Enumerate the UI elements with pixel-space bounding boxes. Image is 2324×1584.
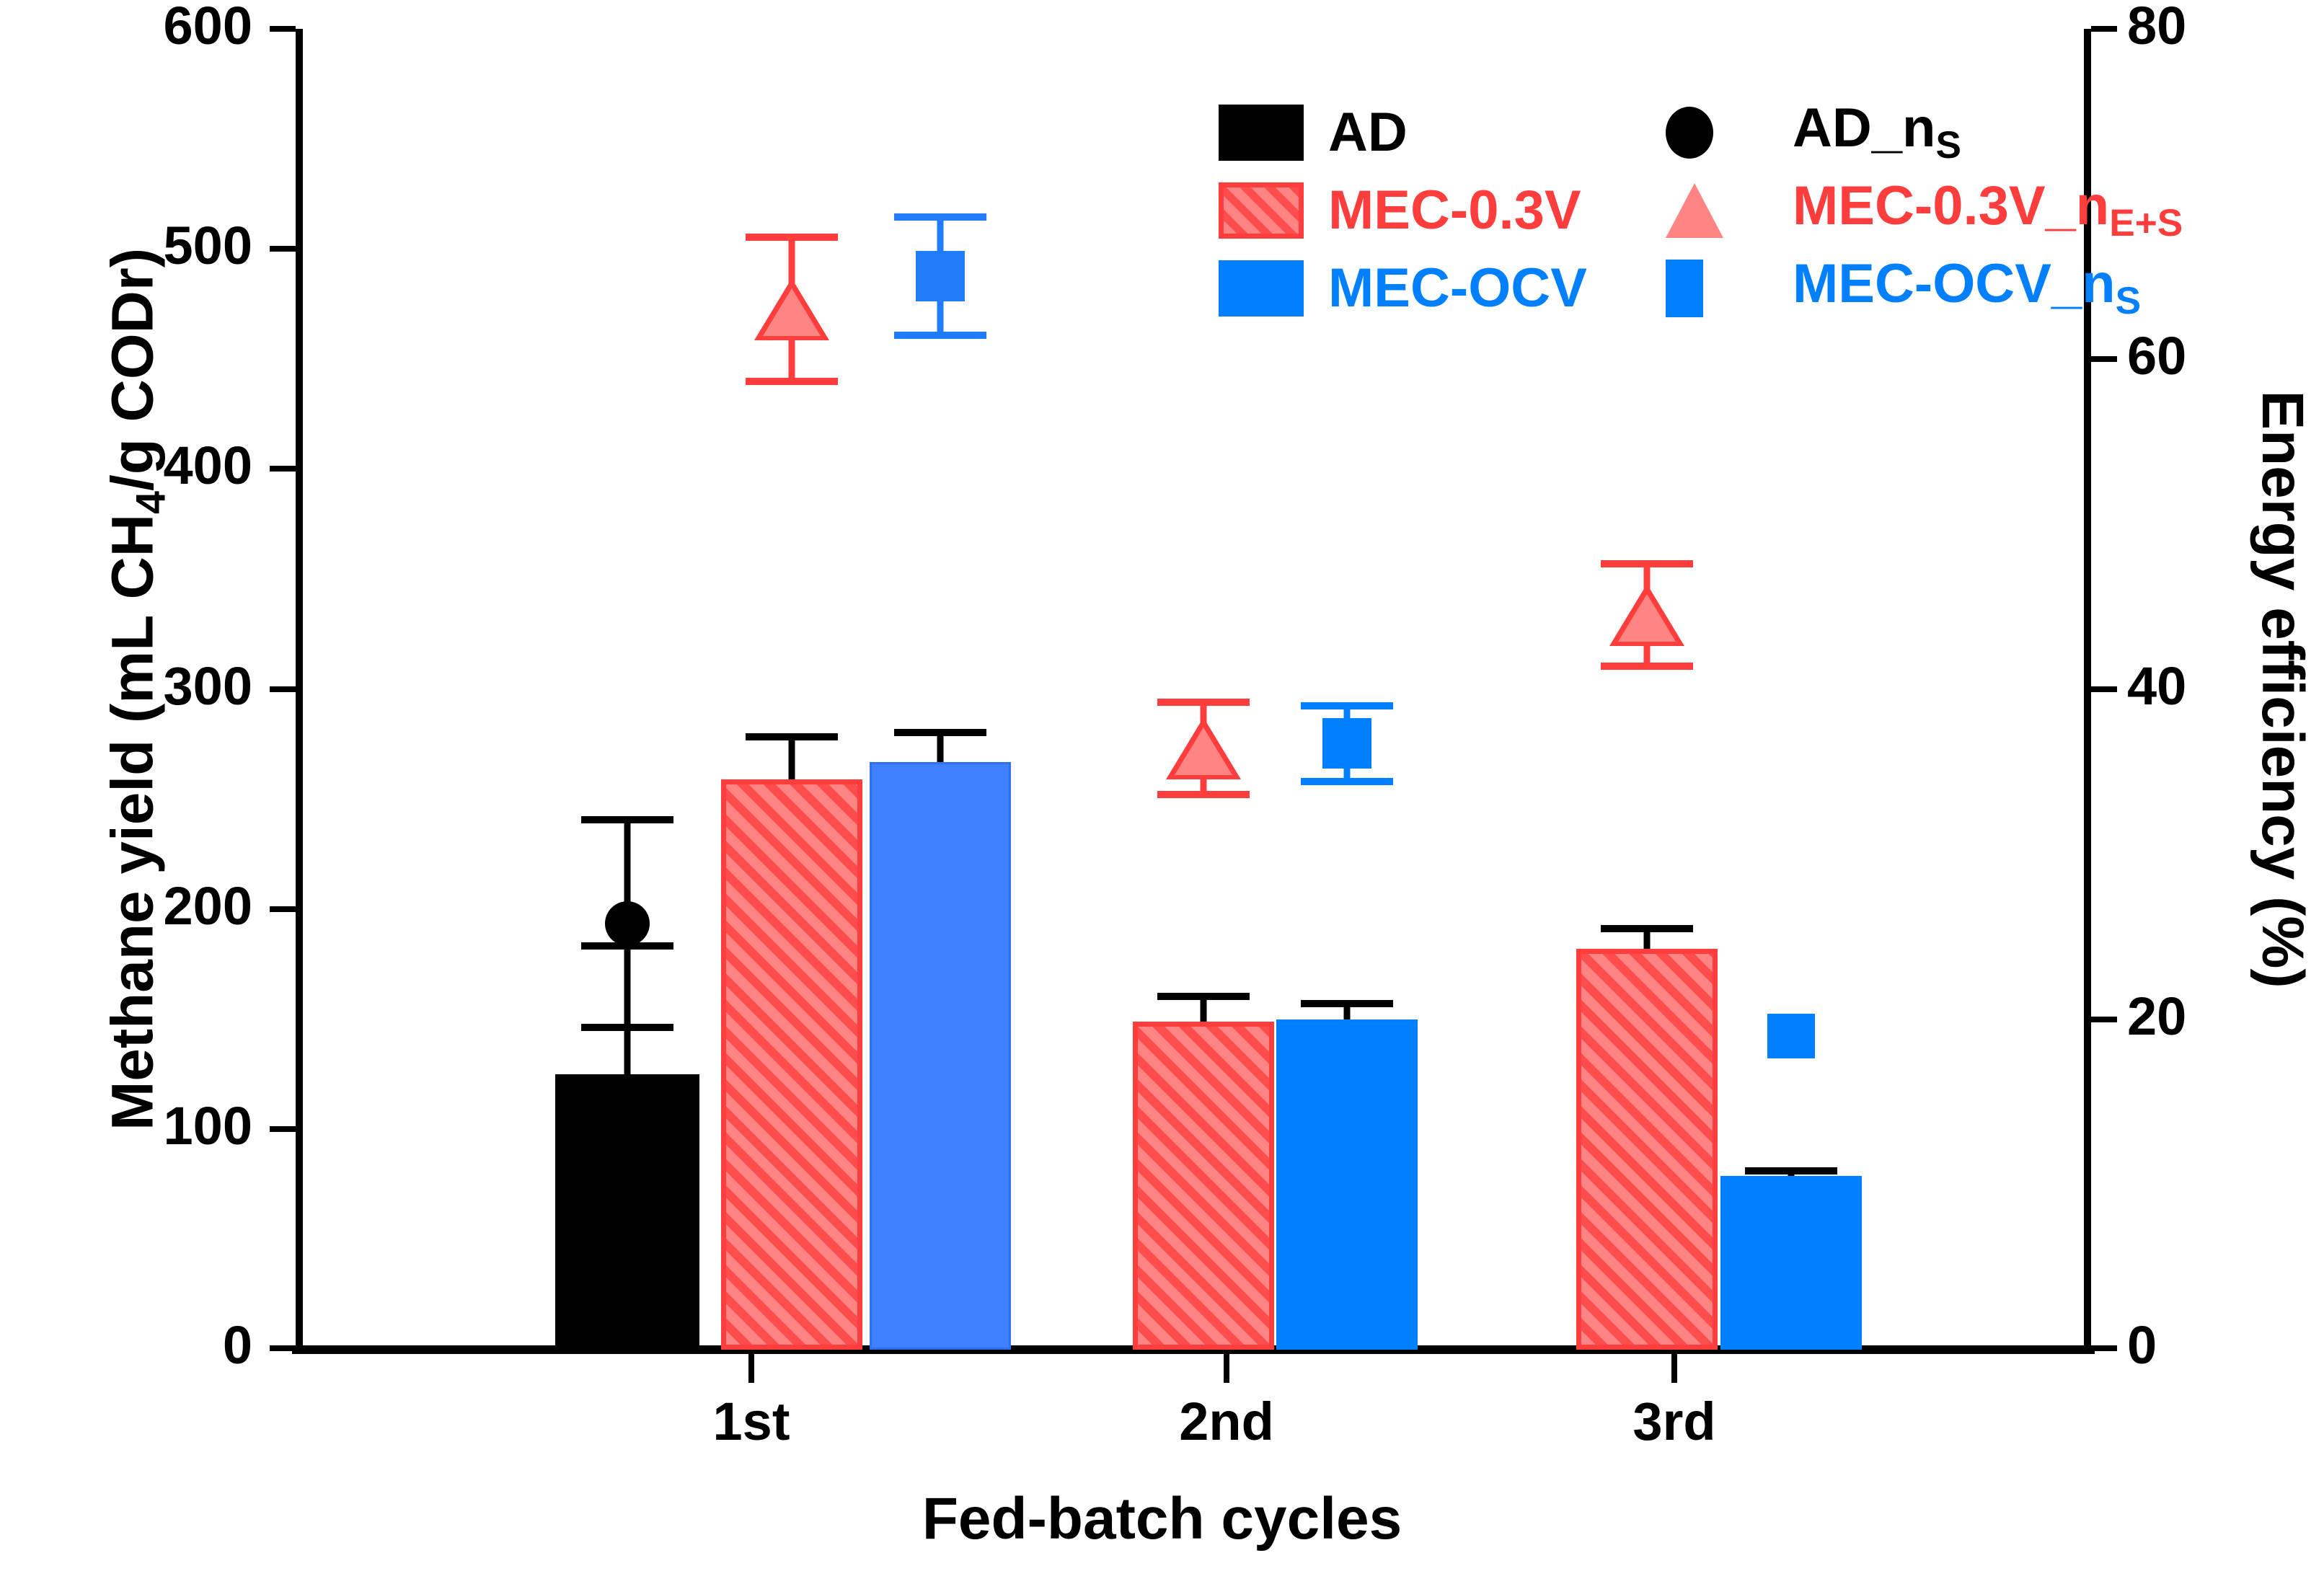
x-axis-title: Fed-batch cycles <box>0 1485 2324 1553</box>
y-axis-title-post: /g CODr) <box>100 248 165 491</box>
y-axis-title: Methane yield (mL CH4/g CODr) <box>99 149 174 1230</box>
y-axis-title-subscript: 4 <box>128 491 174 514</box>
legend-square-marker-icon <box>1666 260 1703 317</box>
y-tick-400 <box>270 466 296 472</box>
legend-label-mecocv-ns: MEC-OCV_nS <box>1793 257 2141 320</box>
x-label-2nd: 2nd <box>1179 1395 1274 1448</box>
y2-tick-40 <box>2091 686 2117 692</box>
x-label-1st: 1st <box>713 1395 790 1448</box>
chart-figure: 600 500 400 300 200 100 0 80 60 40 20 0 … <box>0 0 2324 1584</box>
y2-label-40: 40 <box>2127 660 2186 713</box>
bar-mecocv-3rd <box>1720 1176 1862 1350</box>
bar-mecocv-1st <box>870 762 1011 1350</box>
legend-label-mecocv-ns-pre: MEC-OCV_n <box>1793 253 2116 314</box>
legend-label-ad-ns-pre: AD_n <box>1793 97 1935 159</box>
legend-label-mecocv: MEC-OCV <box>1328 261 1587 316</box>
legend-circle-marker-icon <box>1666 107 1713 159</box>
x-label-3rd: 3rd <box>1632 1395 1715 1448</box>
y-tick-600 <box>270 26 296 32</box>
y-tick-500 <box>270 246 296 252</box>
errorbar-mec03v-3rd <box>1604 925 1690 949</box>
y-tick-0 <box>270 1345 296 1351</box>
y2-label-80: 80 <box>2127 0 2186 53</box>
legend-item-ad-ns[interactable]: AD_nS <box>1666 94 2214 172</box>
bar-mec03v-3rd <box>1576 949 1718 1350</box>
y2-label-60: 60 <box>2127 329 2186 383</box>
errorbar-mecocv-1st <box>897 729 984 762</box>
y2-tick-60 <box>2091 356 2117 362</box>
y-label-100: 100 <box>164 1099 252 1153</box>
bar-mec03v-2nd <box>1133 1022 1274 1350</box>
x-tick-1st <box>748 1350 754 1383</box>
y-label-300: 300 <box>164 660 252 713</box>
legend-triangle-marker-icon <box>1666 183 1723 238</box>
y2-tick-80 <box>2091 26 2117 32</box>
y2-axis-title: Energy efficiency (%) <box>2248 149 2316 1230</box>
y2-label-20: 20 <box>2127 990 2186 1043</box>
legend-swatch-ad-icon <box>1219 105 1304 161</box>
y-label-200: 200 <box>164 880 252 933</box>
y2-tick-0 <box>2091 1345 2117 1351</box>
errorbar-mecocv-3rd <box>1748 1167 1834 1176</box>
x-tick-3rd <box>1671 1350 1677 1383</box>
y-tick-200 <box>270 906 296 912</box>
legend-swatch-mecocv-icon <box>1219 260 1304 317</box>
marker-ad-ns-1st <box>605 901 650 946</box>
x-tick-2nd <box>1224 1350 1229 1383</box>
legend-label-mecocv-ns-sub: S <box>2116 280 2141 322</box>
legend-label-ad: AD <box>1328 105 1408 160</box>
marker-mecocv-ns-3rd <box>1767 1014 1815 1058</box>
y2-tick-20 <box>2091 1017 2117 1022</box>
y-label-600: 600 <box>164 0 252 53</box>
legend-label-mec03v-ne-sub: E+S <box>2109 202 2183 244</box>
y-axis-title-pre: Methane yield (mL CH <box>100 514 165 1131</box>
legend-item-mec03v-ne[interactable]: MEC-0.3V_nE+S <box>1666 172 2214 249</box>
legend-label-mec03v-ne: MEC-0.3V_nE+S <box>1793 179 2183 242</box>
legend-item-mecocv-ns[interactable]: MEC-OCV_nS <box>1666 249 2214 327</box>
y-label-500: 500 <box>164 219 252 273</box>
legend-label-mec03v: MEC-0.3V <box>1328 183 1581 238</box>
legend-label-mec03v-ne-pre: MEC-0.3V_n <box>1793 175 2109 236</box>
legend-column-markers: AD_nS MEC-0.3V_nE+S MEC-OCV_nS <box>1666 94 2214 327</box>
marker-mecocv-ns-2nd <box>1322 718 1371 769</box>
legend-label-ad-ns: AD_nS <box>1793 101 1961 164</box>
legend-label-ad-ns-sub: S <box>1935 124 1961 167</box>
bar-mecocv-2nd <box>1276 1019 1418 1350</box>
errorbar-mec03v-2nd <box>1160 993 1247 1022</box>
marker-mecocv-ns-1st <box>916 251 965 301</box>
y-tick-300 <box>270 686 296 692</box>
y-label-400: 400 <box>164 439 252 492</box>
y2-label-0: 0 <box>2127 1319 2157 1372</box>
errorbar-mecocv-2nd <box>1304 1000 1390 1019</box>
errorbar-mec03v-1st <box>748 733 835 779</box>
legend-swatch-mec03v-icon <box>1219 182 1304 239</box>
y-label-0: 0 <box>223 1319 252 1372</box>
y-tick-100 <box>270 1126 296 1132</box>
bar-mec03v-1st <box>721 779 862 1350</box>
